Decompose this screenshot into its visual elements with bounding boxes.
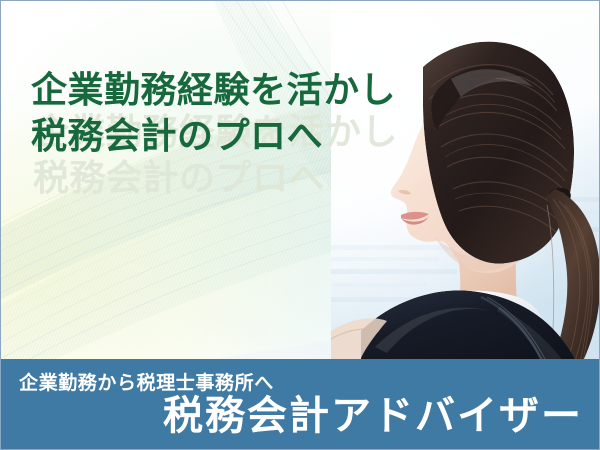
headline-line-2: 税務会計のプロへ <box>31 113 396 159</box>
strip-subtitle: 企業勤務から税理士事務所へ <box>19 368 274 395</box>
headline: 企業勤務経験を活かし 税務会計のプロへ <box>31 67 396 159</box>
promotional-banner: 企業勤務経験を活かし 税務会計のプロへ 企業勤務経験を活かし 税務会計のプロへ … <box>0 0 600 450</box>
businesswoman-photo <box>331 1 600 363</box>
bottom-title-strip: 企業勤務から税理士事務所へ 税務会計アドバイザー <box>1 359 599 449</box>
strip-title: 税務会計アドバイザー <box>163 393 583 439</box>
headline-line-1: 企業勤務経験を活かし <box>31 67 396 113</box>
